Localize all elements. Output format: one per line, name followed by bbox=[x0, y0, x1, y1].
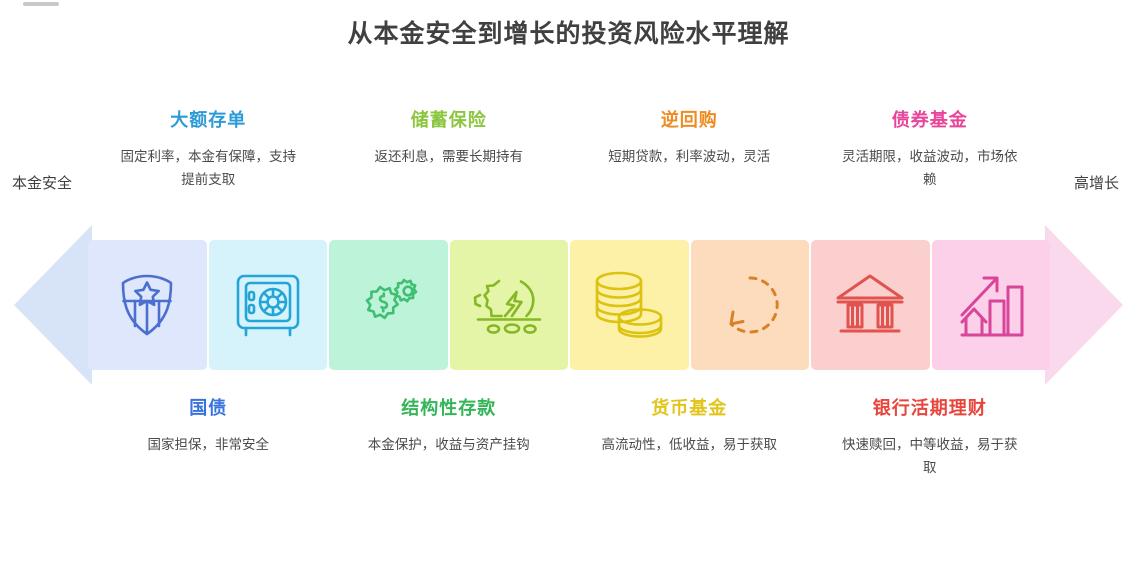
callout-description: 灵活期限，收益波动，市场依赖 bbox=[830, 146, 1030, 192]
callout-title: 逆回购 bbox=[589, 110, 789, 132]
callout-description: 本金保护，收益与资产挂钩 bbox=[349, 434, 549, 457]
icon-tile-7[interactable] bbox=[811, 240, 930, 370]
callout-top-1: 大额存单固定利率，本金有保障，支持提前支取 bbox=[108, 110, 308, 191]
icon-tile-8[interactable] bbox=[932, 240, 1051, 370]
callout-bottom-3: 货币基金高流动性，低收益，易于获取 bbox=[589, 398, 789, 457]
callout-top-3: 逆回购短期贷款，利率波动，灵活 bbox=[589, 110, 789, 169]
icon-tile-3[interactable] bbox=[329, 240, 448, 370]
callout-top-4: 债券基金灵活期限，收益波动，市场依赖 bbox=[830, 110, 1030, 191]
callout-title: 国债 bbox=[108, 398, 308, 420]
callout-title: 大额存单 bbox=[108, 110, 308, 132]
icon-tile-5[interactable] bbox=[570, 240, 689, 370]
axis-label-left: 本金安全 bbox=[12, 172, 72, 193]
icon-tile-1[interactable] bbox=[88, 240, 207, 370]
callout-bottom-1: 国债国家担保，非常安全 bbox=[108, 398, 308, 457]
dashed-refresh-arrow-icon bbox=[717, 272, 783, 338]
callout-top-2: 储蓄保险返还利息，需要长期持有 bbox=[349, 110, 549, 169]
arrow-head-right-icon bbox=[1045, 225, 1123, 385]
broken-piggy-bank-icon bbox=[469, 272, 549, 338]
callout-description: 高流动性，低收益，易于获取 bbox=[589, 434, 789, 457]
shield-star-icon bbox=[116, 273, 178, 337]
icon-tile-row bbox=[88, 240, 1050, 370]
page-title: 从本金安全到增长的投资风险水平理解 bbox=[0, 14, 1137, 50]
callout-bottom-2: 结构性存款本金保护，收益与资产挂钩 bbox=[349, 398, 549, 457]
callout-title: 储蓄保险 bbox=[349, 110, 549, 132]
callout-description: 短期贷款，利率波动，灵活 bbox=[589, 146, 789, 169]
axis-label-right: 高增长 bbox=[1074, 172, 1119, 193]
callout-title: 结构性存款 bbox=[349, 398, 549, 420]
callout-title: 货币基金 bbox=[589, 398, 789, 420]
bank-building-icon bbox=[833, 272, 907, 338]
callout-title: 银行活期理财 bbox=[830, 398, 1030, 420]
icon-tile-2[interactable] bbox=[209, 240, 328, 370]
infographic-canvas: 从本金安全到增长的投资风险水平理解 本金安全 高增长 bbox=[0, 0, 1137, 570]
gears-dollar-icon bbox=[352, 272, 424, 338]
callout-bottom-4: 银行活期理财快速赎回，中等收益，易于获取 bbox=[830, 398, 1030, 479]
arrow-head-left-icon bbox=[14, 225, 92, 385]
growth-chart-icon bbox=[956, 271, 1026, 339]
icon-tile-4[interactable] bbox=[450, 240, 569, 370]
safe-vault-icon bbox=[235, 273, 301, 337]
callout-description: 快速赎回，中等收益，易于获取 bbox=[830, 434, 1030, 480]
scrollbar-nub[interactable] bbox=[23, 2, 59, 6]
callout-description: 固定利率，本金有保障，支持提前支取 bbox=[108, 146, 308, 192]
callout-description: 国家担保，非常安全 bbox=[108, 434, 308, 457]
coin-stack-icon bbox=[592, 270, 666, 340]
callout-title: 债券基金 bbox=[830, 110, 1030, 132]
risk-spectrum-band bbox=[0, 225, 1137, 385]
icon-tile-6[interactable] bbox=[691, 240, 810, 370]
callout-description: 返还利息，需要长期持有 bbox=[349, 146, 549, 169]
